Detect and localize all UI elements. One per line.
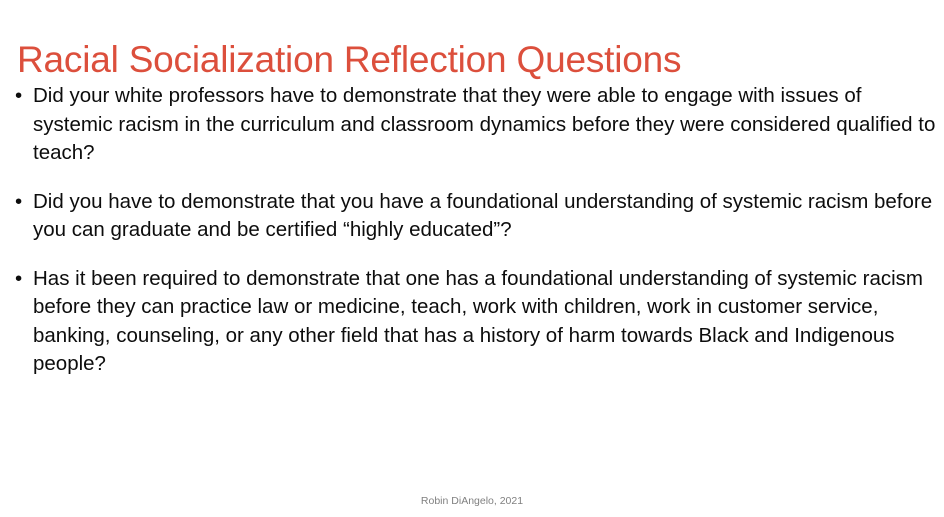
bullet-item-text: Did your white professors have to demons…: [33, 82, 937, 168]
slide-body-content: • Did your white professors have to demo…: [12, 82, 937, 379]
bullet-point-icon: •: [15, 82, 29, 111]
slide-title: Racial Socialization Reflection Question…: [17, 37, 917, 83]
bullet-point-icon: •: [15, 265, 29, 294]
bullet-item-text: Did you have to demonstrate that you hav…: [33, 188, 937, 245]
bullet-list-item-1: • Did your white professors have to demo…: [12, 82, 937, 168]
presentation-slide: Racial Socialization Reflection Question…: [0, 0, 944, 517]
bullet-list-item-3: • Has it been required to demonstrate th…: [12, 265, 937, 379]
bullet-item-text: Has it been required to demonstrate that…: [33, 265, 937, 379]
bullet-point-icon: •: [15, 188, 29, 217]
bullet-list-item-2: • Did you have to demonstrate that you h…: [12, 188, 937, 245]
slide-attribution-footer: Robin DiAngelo, 2021: [0, 494, 944, 508]
